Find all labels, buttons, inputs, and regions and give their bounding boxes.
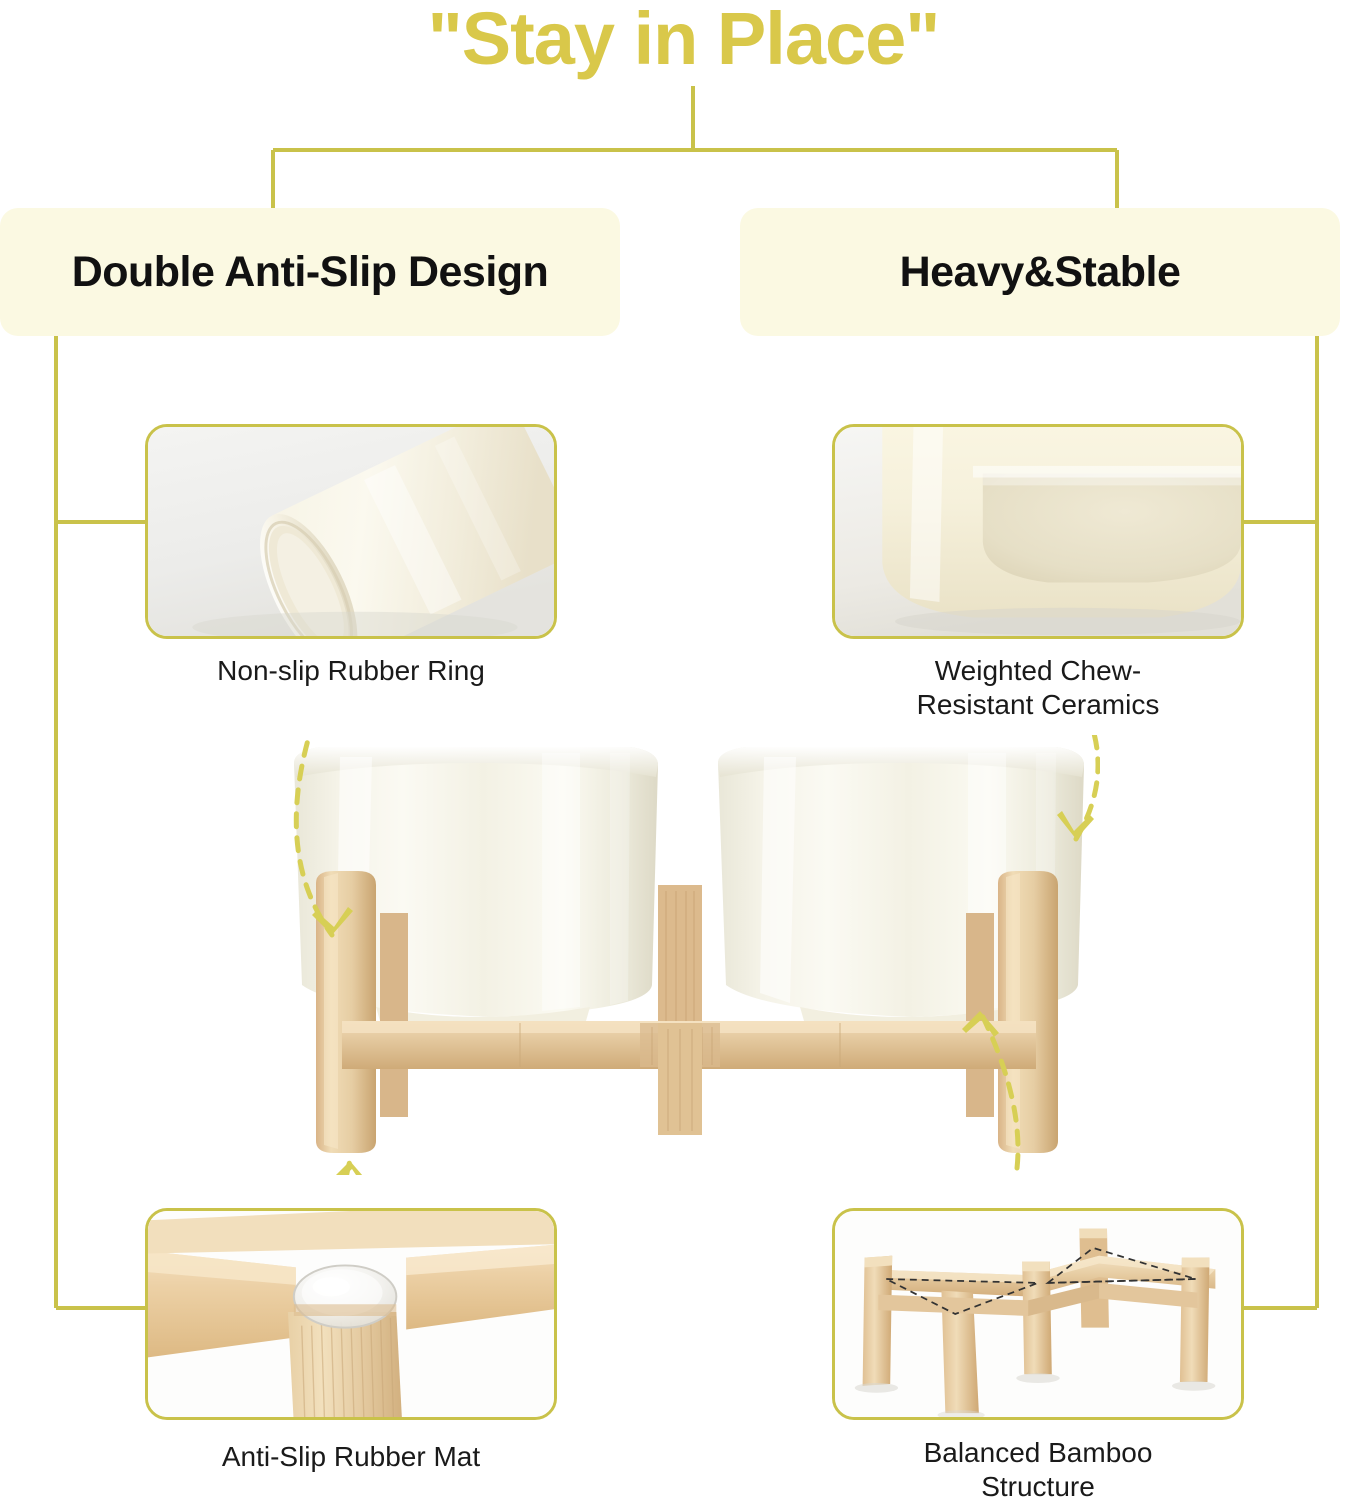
heading-left-label: Double Anti-Slip Design <box>72 248 549 297</box>
caption-bamboo-structure: Balanced Bamboo Structure <box>832 1436 1244 1500</box>
ceramic-bowl-interior-closeup-photo <box>835 427 1241 636</box>
caption-line-1: Non-slip Rubber Ring <box>145 654 557 688</box>
heading-right-label: Heavy&Stable <box>900 248 1181 297</box>
photo-panel-bamboo-structure <box>832 1208 1244 1420</box>
bamboo-leg-rubber-foot-pad-photo <box>148 1211 554 1417</box>
photo-panel-rubber-mat <box>145 1208 557 1420</box>
leg-front-right <box>998 871 1058 1153</box>
heading-pill-left: Double Anti-Slip Design <box>0 208 620 336</box>
caption-line-1: Weighted Chew- <box>822 654 1254 688</box>
infographic-canvas: "Stay in Place" Double Anti-Slip Design … <box>0 0 1367 1500</box>
page-title: "Stay in Place" <box>0 0 1367 81</box>
ceramic-bowl-underside-rubber-ring-photo <box>148 427 554 636</box>
heading-pill-right: Heavy&Stable <box>740 208 1340 336</box>
caption-rubber-ring: Non-slip Rubber Ring <box>145 654 557 688</box>
caption-line-2: Structure <box>832 1470 1244 1500</box>
caption-rubber-mat: Anti-Slip Rubber Mat <box>145 1440 557 1474</box>
caption-line-1: Anti-Slip Rubber Mat <box>145 1440 557 1474</box>
hero-product-image <box>280 735 1100 1175</box>
caption-line-1: Balanced Bamboo <box>832 1436 1244 1470</box>
caption-weighted-ceramics: Weighted Chew- Resistant Ceramics <box>822 654 1254 722</box>
double-ceramic-bowls-on-bamboo-stand-photo <box>280 735 1100 1175</box>
photo-panel-rubber-ring <box>145 424 557 639</box>
bamboo-stand-angled-triangulation-photo <box>835 1211 1241 1417</box>
caption-line-2: Resistant Ceramics <box>822 688 1254 722</box>
photo-panel-weighted-ceramics <box>832 424 1244 639</box>
